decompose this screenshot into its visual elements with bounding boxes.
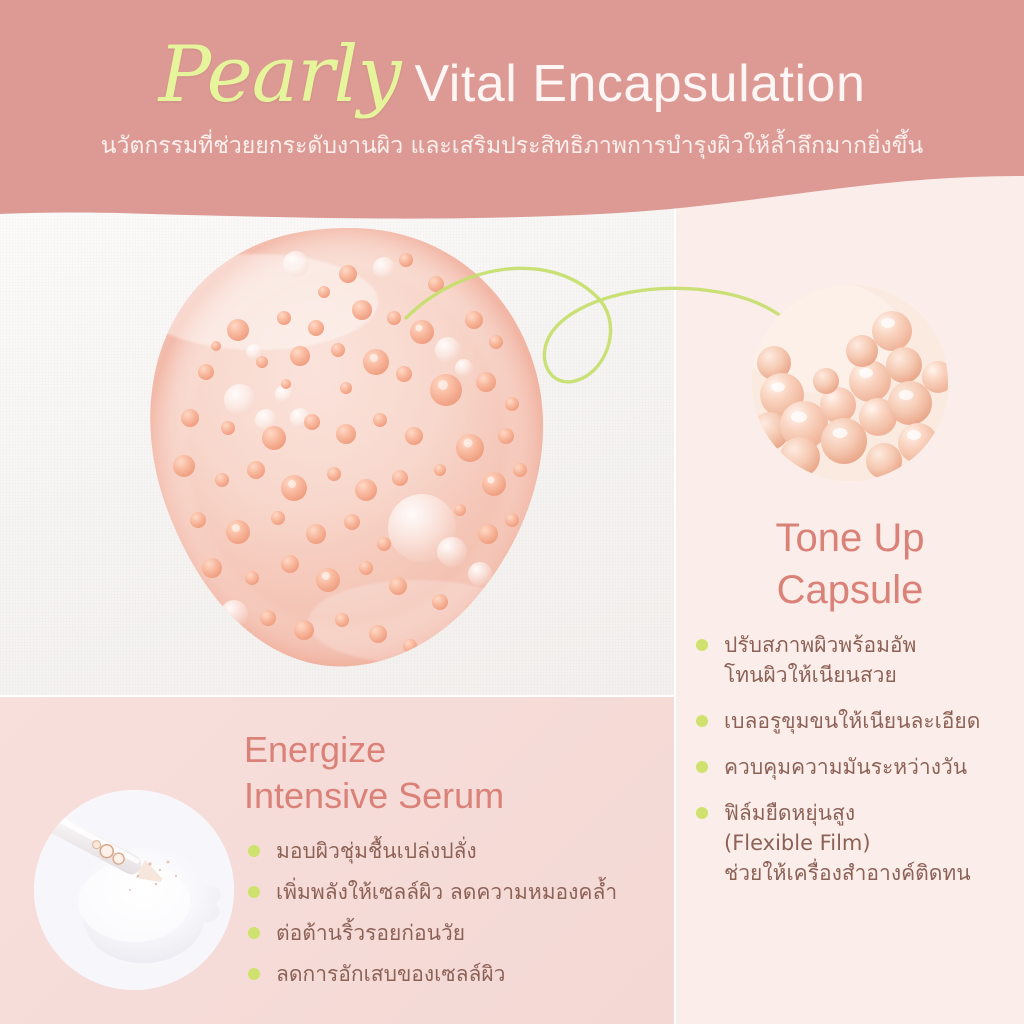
toneup-capsule-closeup-image: [752, 285, 948, 481]
list-item-line: ช่วยให้เครื่องสำอางค์ติดทน: [724, 858, 1014, 888]
serum-section-title: Energize Intensive Serum: [244, 727, 644, 819]
bullet-dot-icon: [248, 927, 260, 939]
toneup-section-title: Tone Up Capsule: [676, 512, 1024, 616]
toneup-benefit-list: ปรับสภาพผิวพร้อมอัพโทนผิวให้เนียนสวยเบลอ…: [694, 630, 1014, 904]
list-item-line: ควบคุมความมันระหว่างวัน: [724, 752, 1014, 782]
bullet-dot-icon: [696, 761, 708, 773]
bullet-dot-icon: [248, 968, 260, 980]
header-subtitle: นวัตกรรมที่ช่วยยกระดับงานผิว และเสริมประ…: [0, 128, 1024, 164]
list-item-line: (Flexible Film): [724, 828, 1014, 858]
list-item: เบลอรูขุมขนให้เนียนละเอียด: [694, 706, 1014, 736]
gel-swatch-illustration: [88, 222, 608, 682]
brand-script-word: Pearly: [159, 30, 401, 120]
serum-title-line-1: Energize: [244, 727, 644, 773]
list-item: ควบคุมความมันระหว่างวัน: [694, 752, 1014, 782]
list-item-line: โทนผิวให้เนียนสวย: [724, 660, 1014, 690]
title-remainder: Vital Encapsulation: [415, 55, 866, 113]
toneup-title-line-2: Capsule: [676, 564, 1024, 616]
list-item: ฟิล์มยืดหยุ่นสูง(Flexible Film)ช่วยให้เค…: [694, 798, 1014, 888]
list-item: ปรับสภาพผิวพร้อมอัพโทนผิวให้เนียนสวย: [694, 630, 1014, 690]
bullet-dot-icon: [248, 845, 260, 857]
bullet-dot-icon: [696, 807, 708, 819]
list-item: มอบผิวชุ่มชื้นเปล่งปลั่ง: [246, 836, 666, 866]
panel-divider-horizontal: [0, 695, 674, 697]
bullet-dot-icon: [696, 715, 708, 727]
list-item: เพิ่มพลังให้เซลล์ผิว ลดความหมองคล้ำ: [246, 877, 666, 907]
list-item: ต่อต้านริ้วรอยก่อนวัย: [246, 918, 666, 948]
list-item-line: เบลอรูขุมขนให้เนียนละเอียด: [724, 706, 1014, 736]
list-item-line: ต่อต้านริ้วรอยก่อนวัย: [276, 918, 666, 948]
page-title: PearlyVital Encapsulation: [0, 36, 1024, 114]
list-item-line: ฟิล์มยืดหยุ่นสูง: [724, 798, 1014, 828]
bullet-dot-icon: [696, 639, 708, 651]
infographic-poster: PearlyVital Encapsulation นวัตกรรมที่ช่ว…: [0, 0, 1024, 1024]
serum-benefit-list: มอบผิวชุ่มชื้นเปล่งปลั่งเพิ่มพลังให้เซลล…: [246, 836, 666, 1000]
list-item-line: ปรับสภาพผิวพร้อมอัพ: [724, 630, 1014, 660]
list-item-line: ลดการอักเสบของเซลล์ผิว: [276, 959, 666, 989]
toneup-title-line-1: Tone Up: [676, 512, 1024, 564]
serum-title-line-2: Intensive Serum: [244, 773, 644, 819]
list-item: ลดการอักเสบของเซลล์ผิว: [246, 959, 666, 989]
list-item-line: เพิ่มพลังให้เซลล์ผิว ลดความหมองคล้ำ: [276, 877, 666, 907]
serum-dropper-closeup-image: [34, 790, 234, 990]
list-item-line: มอบผิวชุ่มชื้นเปล่งปลั่ง: [276, 836, 666, 866]
bullet-dot-icon: [248, 886, 260, 898]
header-banner: PearlyVital Encapsulation นวัตกรรมที่ช่ว…: [0, 0, 1024, 230]
